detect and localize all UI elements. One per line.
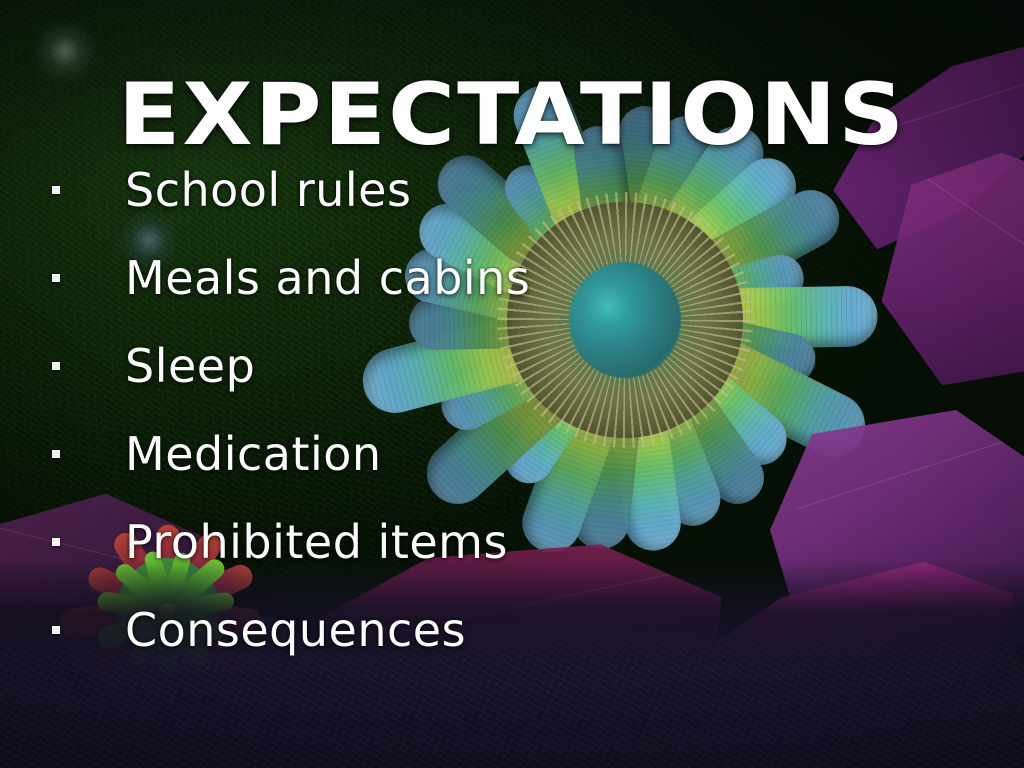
square-bullet-icon (52, 274, 60, 282)
slide-title: EXPECTATIONS (0, 72, 1024, 158)
bullet-label: Meals and cabins (125, 252, 530, 304)
square-bullet-icon (52, 362, 60, 370)
bullet-item-school-rules: School rules (52, 164, 530, 252)
bullet-item-medication: Medication (52, 428, 530, 516)
bullet-item-prohibited-items: Prohibited items (52, 516, 530, 604)
square-bullet-icon (52, 450, 60, 458)
bullet-item-consequences: Consequences (52, 604, 530, 692)
square-bullet-icon (52, 538, 60, 546)
bullet-item-meals-and-cabins: Meals and cabins (52, 252, 530, 340)
square-bullet-icon (52, 186, 60, 194)
bullet-label: School rules (125, 164, 411, 216)
bullet-list: School rules Meals and cabins Sleep Medi… (52, 164, 530, 692)
bullet-label: Sleep (125, 340, 255, 392)
square-bullet-icon (52, 626, 60, 634)
presentation-slide: EXPECTATIONS School rules Meals and cabi… (0, 0, 1024, 768)
bullet-label: Consequences (125, 604, 466, 656)
slide-content: EXPECTATIONS School rules Meals and cabi… (0, 0, 1024, 768)
bullet-label: Prohibited items (125, 516, 508, 568)
bullet-label: Medication (125, 428, 382, 480)
bullet-item-sleep: Sleep (52, 340, 530, 428)
